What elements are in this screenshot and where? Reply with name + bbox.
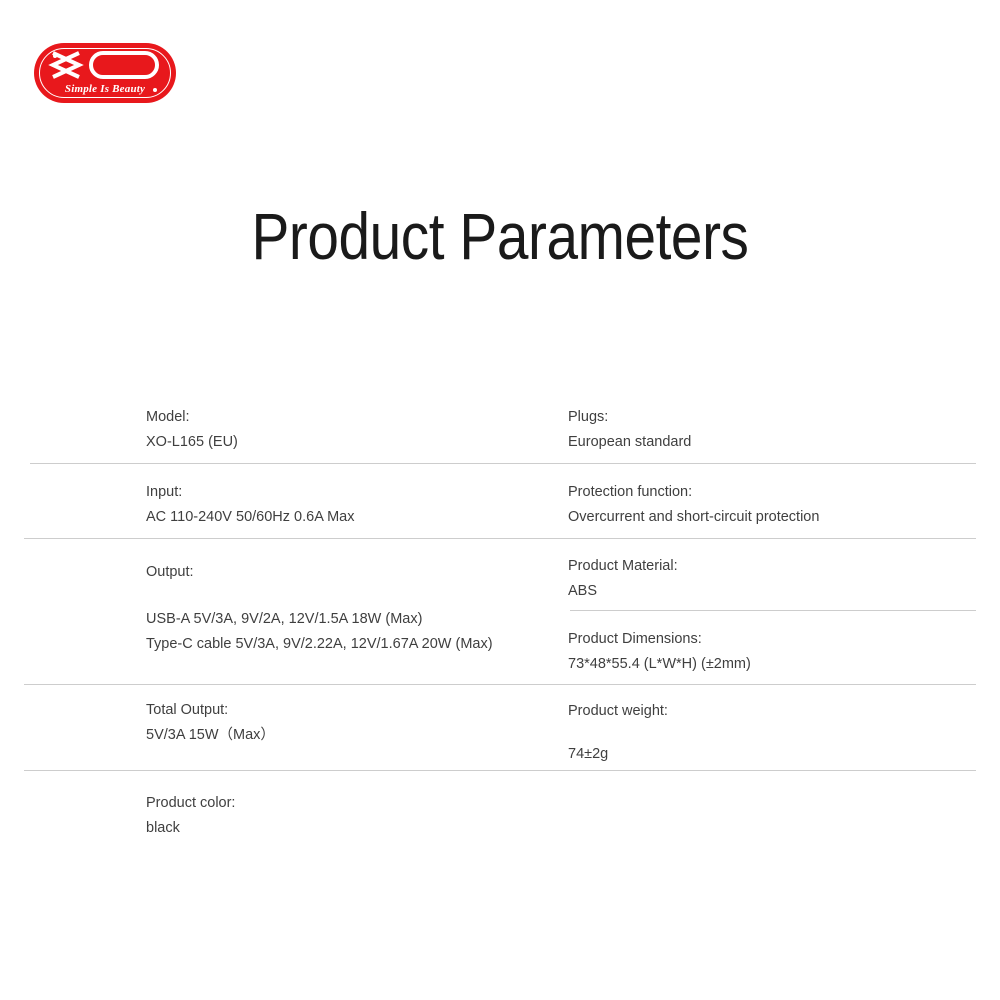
spec-value-product-material: ABS — [568, 579, 988, 604]
spec-value-plugs: European standard — [568, 430, 988, 455]
spec-label-output: Output: — [146, 560, 566, 585]
spec-label-plugs: Plugs: — [568, 405, 988, 430]
spec-row-output: Output: USB-A 5V/3A, 9V/2A, 12V/1.5A 18W… — [146, 560, 566, 657]
spec-value-product-color: black — [146, 816, 566, 841]
spec-row-total-output: Total Output: 5V/3A 15W（Max） — [146, 698, 566, 748]
spec-value-output-usb-a: USB-A 5V/3A, 9V/2A, 12V/1.5A 18W (Max) — [146, 607, 566, 632]
spec-label-product-material: Product Material: — [568, 554, 988, 579]
spec-row-product-dimensions: Product Dimensions: 73*48*55.4 (L*W*H) (… — [568, 627, 988, 677]
spec-label-protection-function: Protection function: — [568, 480, 988, 505]
spec-row-plugs: Plugs: European standard — [568, 405, 988, 455]
spec-value-protection-function: Overcurrent and short-circuit protection — [568, 505, 988, 530]
spec-value-input: AC 110-240V 50/60Hz 0.6A Max — [146, 505, 566, 530]
spec-value-output-type-c: Type-C cable 5V/3A, 9V/2.22A, 12V/1.67A … — [146, 632, 566, 657]
spec-value-product-dimensions: 73*48*55.4 (L*W*H) (±2mm) — [568, 652, 988, 677]
spec-label-product-color: Product color: — [146, 791, 566, 816]
spec-label-product-dimensions: Product Dimensions: — [568, 627, 988, 652]
product-parameters-table: Model: XO-L165 (EU) Input: AC 110-240V 5… — [0, 0, 1000, 1000]
row-divider-4 — [24, 770, 976, 771]
spec-label-model: Model: — [146, 405, 566, 430]
row-divider-2 — [24, 538, 976, 539]
spec-value-product-weight: 74±2g — [568, 742, 988, 767]
spec-value-total-output: 5V/3A 15W（Max） — [146, 723, 566, 748]
spec-row-product-material: Product Material: ABS — [568, 554, 988, 604]
spec-row-product-weight: Product weight: 74±2g — [568, 699, 988, 767]
spec-label-input: Input: — [146, 480, 566, 505]
row-divider-1 — [30, 463, 976, 464]
spec-row-model: Model: XO-L165 (EU) — [146, 405, 566, 455]
row-divider-right-inset — [570, 610, 976, 611]
spec-value-model: XO-L165 (EU) — [146, 430, 566, 455]
row-divider-3 — [24, 684, 976, 685]
spec-label-total-output: Total Output: — [146, 698, 566, 723]
spec-row-protection-function: Protection function: Overcurrent and sho… — [568, 480, 988, 530]
spec-row-product-color: Product color: black — [146, 791, 566, 841]
spec-row-input: Input: AC 110-240V 50/60Hz 0.6A Max — [146, 480, 566, 530]
spec-label-product-weight: Product weight: — [568, 699, 988, 724]
